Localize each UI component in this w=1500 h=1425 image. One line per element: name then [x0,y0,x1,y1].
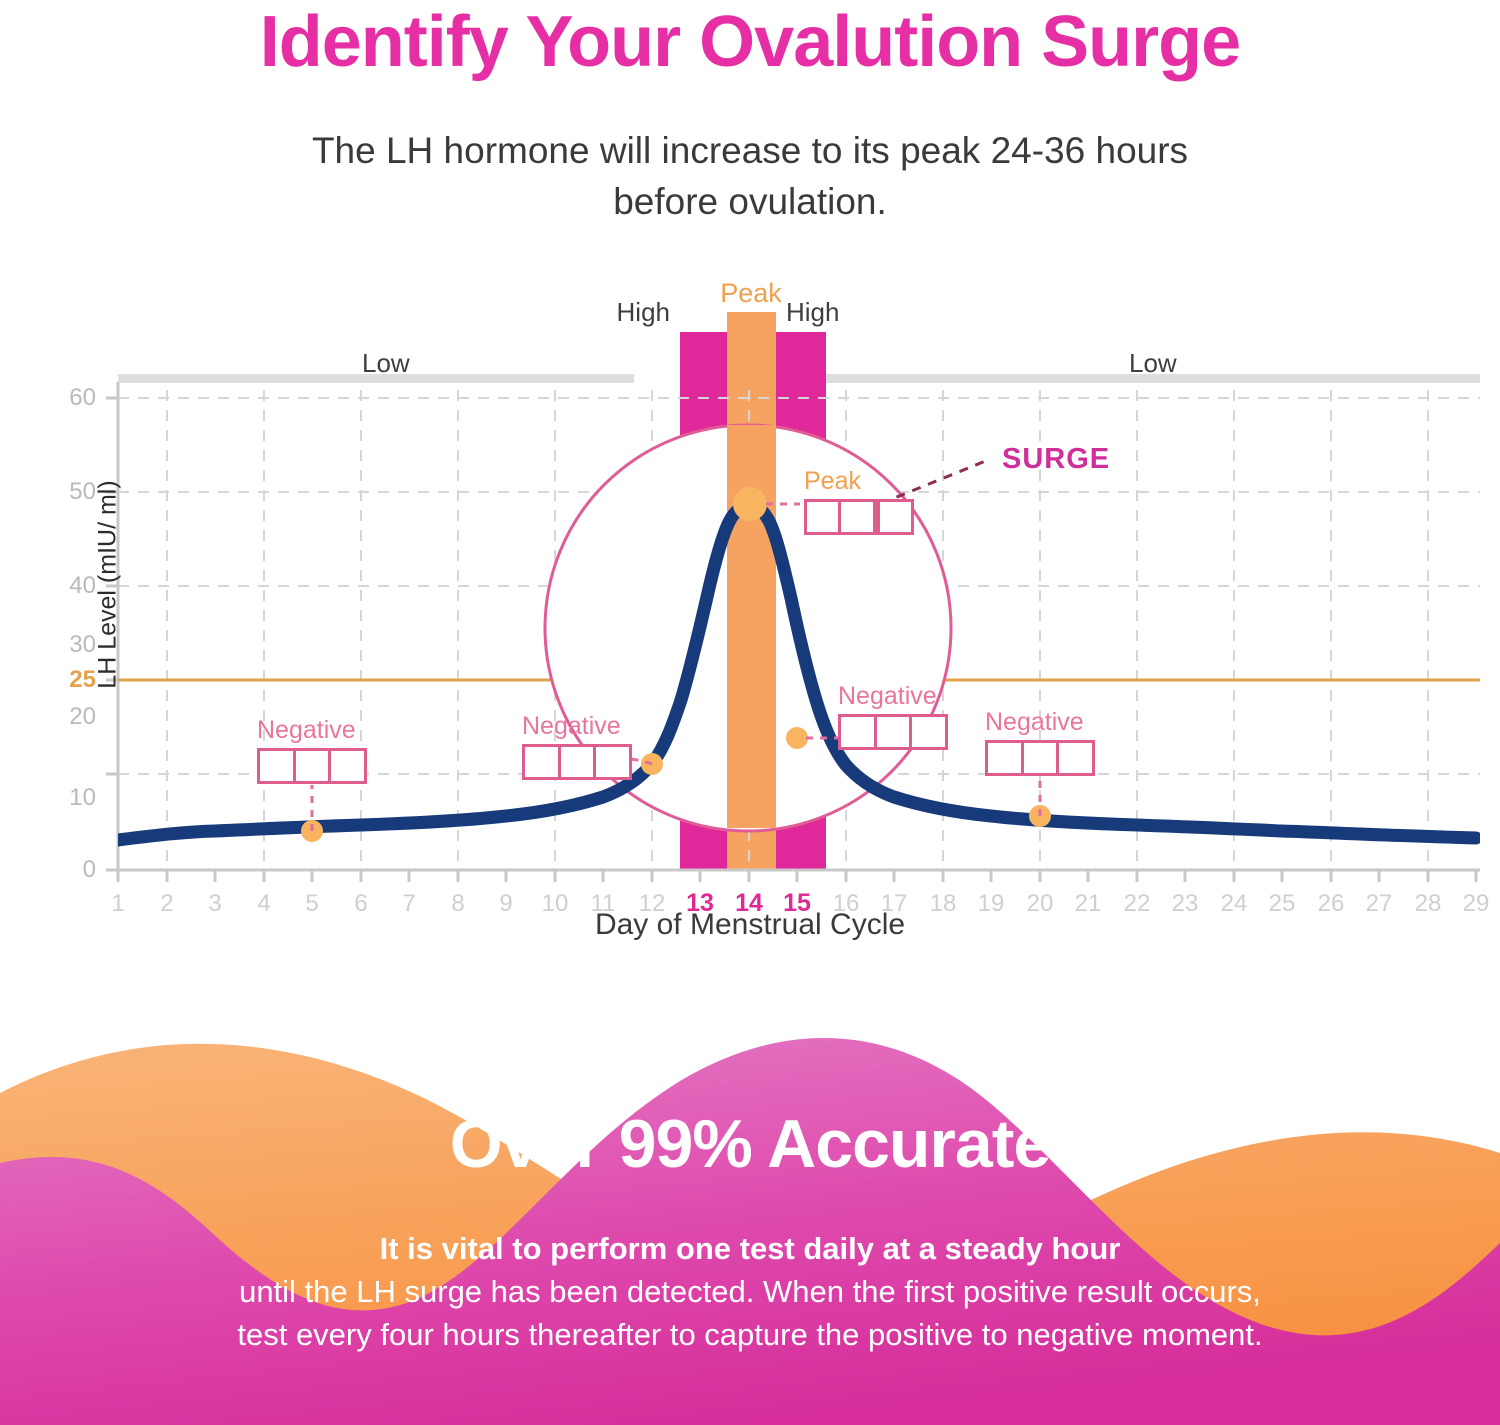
x-tick-17: 17 [881,890,908,918]
marker-peak-day-14 [733,487,767,521]
strip-cell-2 [561,747,597,777]
peak-band-overlay [727,425,776,828]
test-strip-negative-2: Negative [522,712,632,780]
x-tick-5: 5 [305,890,318,918]
footer-body-text: It is vital to perform one test daily at… [30,1228,1470,1356]
x-tick-18: 18 [930,890,957,918]
page-subtitle: The LH hormone will increase to its peak… [150,125,1350,227]
strip-cell-3 [596,747,629,777]
test-strip-negative-1-label: Negative [257,716,367,745]
x-tick-12: 12 [639,890,666,918]
x-tick-14: 14 [735,889,763,918]
footer-wave-canvas [0,975,1500,1425]
y-tick-20: 20 [36,703,96,731]
test-strip-peak-label: Peak [804,467,914,496]
test-strip-negative-3: Negative [838,682,948,750]
marker-day-15 [786,727,808,749]
x-axis-ticks [118,870,1476,882]
x-tick-16: 16 [833,890,860,918]
chart-canvas [0,270,1500,960]
zone-label-high-left: High [617,297,670,328]
test-strip-negative-2-label: Negative [522,712,632,741]
x-tick-8: 8 [451,890,464,918]
footer-line-1: It is vital to perform one test daily at… [30,1228,1470,1271]
x-tick-13: 13 [686,889,714,918]
zone-label-peak: Peak [720,278,782,309]
test-strip-peak: Peak [804,467,914,535]
test-strip-negative-3-body [838,714,948,750]
x-tick-11: 11 [591,890,616,918]
x-tick-23: 23 [1172,890,1199,918]
surge-callout-label: SURGE [1002,443,1110,476]
x-tick-7: 7 [402,890,415,918]
y-tick-10: 10 [36,784,96,812]
x-tick-26: 26 [1318,890,1345,918]
y-axis-title: LH Level (mIU/ ml) [94,425,123,745]
x-tick-1: 1 [111,890,124,918]
subtitle-line-1: The LH hormone will increase to its peak… [312,130,1188,171]
strip-cell-2 [296,751,332,781]
x-tick-2: 2 [160,890,173,918]
x-tick-15: 15 [783,889,811,918]
strip-cell-3 [1059,743,1092,773]
footer-line-2: until the LH surge has been detected. Wh… [30,1271,1470,1314]
test-strip-negative-4-body [985,740,1095,776]
zone-label-high-right: High [786,297,839,328]
x-tick-21: 21 [1075,890,1102,918]
strip-cell-1 [260,751,296,781]
test-strip-negative-4: Negative [985,708,1095,776]
y-tick-0: 0 [36,856,96,884]
strip-cell-1 [807,502,841,532]
x-tick-25: 25 [1269,890,1296,918]
footer-line-3: test every four hours thereafter to capt… [30,1314,1470,1357]
strip-cell-3 [880,502,911,532]
lh-chart: LH Level (mIU/ ml) Day of Menstrual Cycl… [0,270,1500,960]
x-tick-29: 29 [1463,890,1490,918]
test-strip-negative-4-label: Negative [985,708,1095,737]
peak-band-top [727,312,776,364]
x-tick-19: 19 [978,890,1005,918]
subtitle-line-2: before ovulation. [613,181,887,222]
test-strip-negative-1: Negative [257,716,367,784]
strip-cell-3 [331,751,364,781]
x-tick-20: 20 [1027,890,1054,918]
x-tick-24: 24 [1221,890,1248,918]
zone-label-low-right: Low [1129,348,1177,379]
strip-cell-3 [912,717,945,747]
test-strip-negative-1-body [257,748,367,784]
strip-cell-2 [877,717,913,747]
strip-cell-1 [525,747,561,777]
strip-cell-1 [988,743,1024,773]
high-band-left-top [680,332,729,364]
x-tick-9: 9 [499,890,512,918]
test-strip-negative-3-label: Negative [838,682,948,711]
infographic-page: Identify Your Ovalution Surge The LH hor… [0,0,1500,1425]
x-tick-3: 3 [208,890,221,918]
zone-label-low-left: Low [362,348,410,379]
x-tick-27: 27 [1366,890,1393,918]
footer-wave-panel [0,975,1500,1425]
x-tick-28: 28 [1415,890,1442,918]
x-tick-6: 6 [354,890,367,918]
y-tick-50: 50 [36,478,96,506]
page-title: Identify Your Ovalution Surge [0,4,1500,82]
test-strip-peak-body [804,499,914,535]
y-tick-25: 25 [36,666,96,694]
x-tick-10: 10 [542,890,569,918]
test-strip-negative-2-body [522,744,632,780]
strip-cell-2 [1024,743,1060,773]
footer-headline: Over 99% Accurate [0,1105,1500,1183]
y-tick-30: 30 [36,631,96,659]
high-band-right-top [774,332,826,364]
x-tick-22: 22 [1124,890,1151,918]
y-tick-60: 60 [36,384,96,412]
strip-cell-1 [841,717,877,747]
strip-cell-2 [841,502,879,532]
x-tick-4: 4 [257,890,270,918]
y-tick-40: 40 [36,572,96,600]
